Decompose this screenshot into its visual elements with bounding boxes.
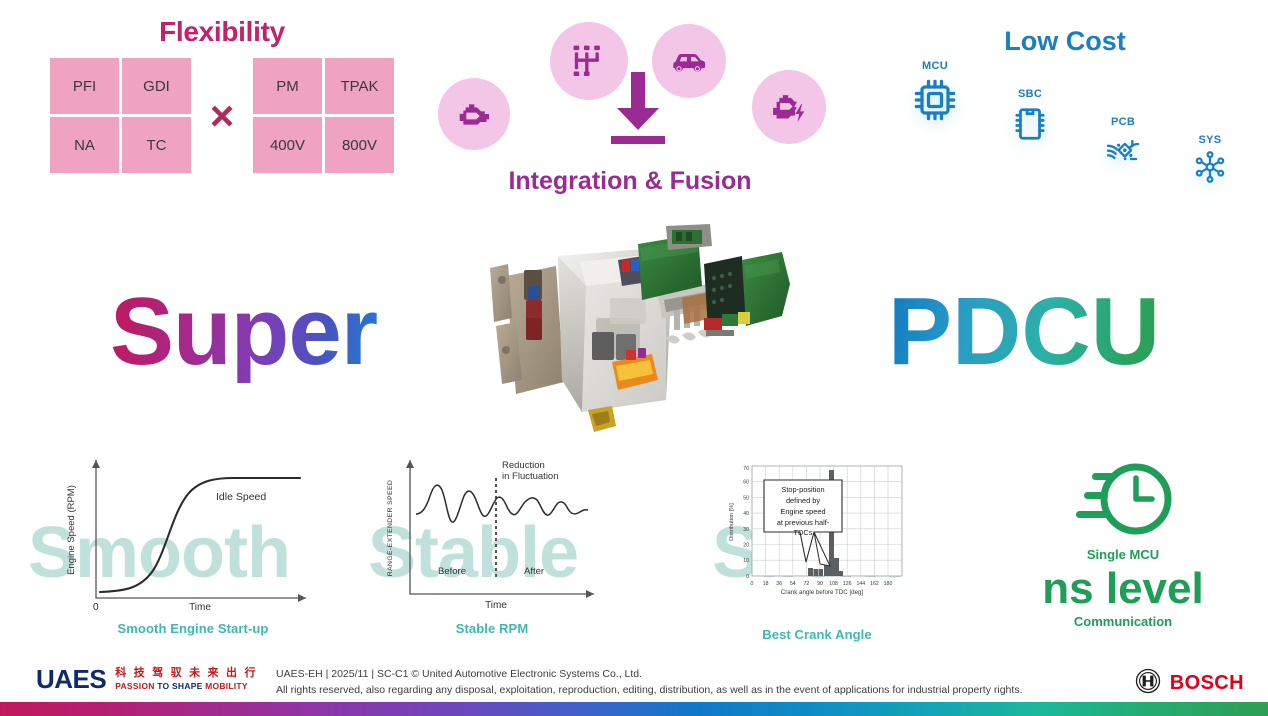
sys-label: SYS [1170,134,1250,146]
sbc-label: SBC [988,88,1072,100]
product-exploded-view-image [460,222,820,450]
flexibility-block: Flexibility PFI GDI NA TC × PM TPAK 400V… [42,16,402,173]
integration-fusion-block: Integration & Fusion [430,10,830,220]
uaes-logo: UAES 科 技 驾 驭 未 来 出 行 PASSION TO SHAPE MO… [36,664,258,695]
x-axis-label: Time [189,602,211,612]
y-axis-label: Distribution [%] [729,503,735,541]
svg-text:70: 70 [743,466,749,472]
annotation-before: Before [438,566,466,577]
panel-best-crank-angle: 0 10 20 30 40 50 60 70 0 18 36 54 72 90 … [722,460,912,642]
legal-line-2: All rights reserved, also regarding any … [276,682,1022,698]
svg-text:18: 18 [763,581,769,587]
flex-cell-pfi: PFI [50,58,119,114]
svg-text:defined by: defined by [786,496,820,505]
svg-text:Stop-position: Stop-position [781,485,824,494]
chart-stable-rpm: RANGE-EXTENDER SPEED Reduction in Fluctu… [372,452,612,617]
engine-icon [438,78,510,150]
y-axis-label: Engine Speed (RPM) [66,485,77,575]
flex-cell-400v: 400V [253,117,322,173]
ic-chip-icon [988,102,1072,151]
tagline-passion: PASSION [115,681,154,691]
tagline-to-shape: TO SHAPE [155,681,206,691]
hero-word-super: Super [110,282,377,383]
svg-text:180: 180 [884,581,893,587]
pcb-label: PCB [1082,116,1164,128]
network-nodes-icon [1170,148,1250,191]
legal-text: UAES-EH | 2025/11 | SC-C1 © United Autom… [276,666,1022,699]
y-axis-label: RANGE-EXTENDER SPEED [387,480,394,576]
legal-line-1: UAES-EH | 2025/11 | SC-C1 © United Autom… [276,666,1022,682]
svg-text:50: 50 [743,495,749,501]
svg-text:0: 0 [751,581,754,587]
chart-best-crank-angle: 0 10 20 30 40 50 60 70 0 18 36 54 72 90 … [722,460,912,623]
svg-text:72: 72 [804,581,810,587]
flex-cell-na: NA [50,117,119,173]
svg-text:162: 162 [870,581,879,587]
panel-caption-stable: Stable RPM [372,621,612,636]
annotation-reduction-line2: in Fluctuation [502,471,559,482]
microchip-icon [892,74,978,131]
annotation-after: After [524,566,544,577]
low-cost-item-mcu: MCU [892,60,978,131]
speed-clock-icon [1018,458,1228,545]
svg-text:TDCs: TDCs [794,528,813,537]
svg-text:90: 90 [817,581,823,587]
panel-caption-crank: Best Crank Angle [722,627,912,642]
svg-text:Engine speed: Engine speed [780,507,825,516]
annotation-reduction-line1: Reduction [502,460,545,471]
hybrid-engine-icon [752,70,826,144]
low-cost-item-sys: SYS [1170,134,1250,191]
panel-caption-smooth: Smooth Engine Start-up [48,621,338,636]
hero-word-pdcu: PDCU [888,282,1160,383]
bosch-logo: BOSCH [1135,668,1244,699]
uaes-tagline-block: 科 技 驾 驭 未 来 出 行 PASSION TO SHAPE MOBILIT… [115,667,257,692]
x-axis-label: Crank angle before TDC [deg] [781,589,864,596]
svg-text:144: 144 [856,581,865,587]
svg-text:40: 40 [743,511,749,517]
communication-label: Communication [1018,614,1228,629]
bottom-gradient-bar [0,702,1268,716]
low-cost-block: Low Cost MCU SBC PCB [870,12,1260,222]
integration-fusion-label: Integration & Fusion [430,167,830,196]
low-cost-item-pcb: PCB [1082,116,1164,175]
circuit-board-icon [1082,130,1164,175]
ns-level-headline: ns level [1018,566,1228,612]
flex-cell-tc: TC [122,117,191,173]
flexibility-title: Flexibility [42,16,402,48]
svg-text:54: 54 [790,581,796,587]
mcu-label: MCU [892,60,978,72]
x-axis-label: Time [485,600,507,611]
panel-stable-rpm: RANGE-EXTENDER SPEED Reduction in Fluctu… [372,452,612,636]
single-mcu-label: Single MCU [1018,547,1228,562]
down-arrow-icon [605,72,671,163]
annotation-idle-speed: Idle Speed [216,491,266,503]
low-cost-title: Low Cost [870,26,1260,57]
flexibility-grids: PFI GDI NA TC × PM TPAK 400V 800V [42,58,402,173]
svg-text:20: 20 [743,543,749,549]
svg-text:30: 30 [743,527,749,533]
svg-text:108: 108 [829,581,838,587]
svg-text:10: 10 [743,558,749,564]
svg-text:at previous half-: at previous half- [777,518,830,527]
svg-text:126: 126 [843,581,852,587]
flex-cell-pm: PM [253,58,322,114]
panel-smooth-engine-startup: Engine Speed (RPM) Idle Speed 0 Time Smo… [48,452,338,636]
svg-text:60: 60 [743,480,749,486]
flexibility-left-grid: PFI GDI NA TC [50,58,191,173]
origin-label: 0 [93,602,99,612]
flex-cell-gdi: GDI [122,58,191,114]
multiply-operator: × [191,95,253,137]
uaes-wordmark: UAES [36,664,106,695]
uaes-tagline-cn: 科 技 驾 驭 未 来 出 行 [115,667,257,681]
flexibility-right-grid: PM TPAK 400V 800V [253,58,394,173]
top-row: Flexibility PFI GDI NA TC × PM TPAK 400V… [0,0,1268,222]
flex-cell-800v: 800V [325,117,394,173]
svg-text:36: 36 [776,581,782,587]
svg-text:0: 0 [746,574,749,580]
uaes-tagline-en: PASSION TO SHAPE MOBILITY [115,681,257,692]
bosch-wordmark: BOSCH [1170,672,1244,695]
chart-smooth-engine-startup: Engine Speed (RPM) Idle Speed 0 Time [48,452,338,617]
bosch-armature-icon [1135,668,1161,699]
flex-cell-tpak: TPAK [325,58,394,114]
panel-communication: Single MCU ns level Communication [1018,458,1228,629]
tagline-mobility: MOBILITY [205,681,248,691]
low-cost-item-sbc: SBC [988,88,1072,151]
